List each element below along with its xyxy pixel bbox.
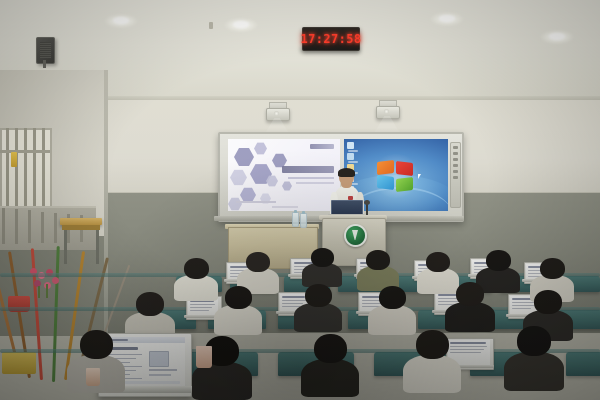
laptop-ui-line <box>450 346 487 347</box>
laptop-ui-header <box>282 296 305 298</box>
attendee-body <box>294 303 342 332</box>
projector-left-lens <box>274 111 279 116</box>
slide-subtitle-line <box>296 182 334 184</box>
slide-subtitle-line <box>288 177 334 179</box>
ceiling-light-3-core <box>439 15 455 22</box>
slide-hexagon <box>282 181 292 191</box>
attendee-head <box>534 290 562 314</box>
attendee-head <box>416 330 449 359</box>
projector-right-lens <box>384 109 389 114</box>
left-wall-corner <box>104 70 108 336</box>
flower-stem <box>46 284 48 298</box>
slide-hexagon <box>230 169 247 186</box>
water-bottle <box>300 213 307 228</box>
fg-form-line <box>108 354 142 355</box>
windows-logo-icon <box>377 161 415 191</box>
attendee-head <box>311 248 334 267</box>
railing-post <box>41 212 44 244</box>
attendee-head <box>540 258 565 279</box>
slide-logo <box>310 144 334 149</box>
attendee-head <box>314 334 347 363</box>
laptop-ui-line <box>190 307 212 308</box>
ceiling-light-2-core <box>233 21 249 28</box>
presenter-hair <box>338 168 355 177</box>
attendee-head <box>184 258 209 279</box>
audience-seat[interactable] <box>566 352 600 376</box>
speaker-bracket <box>43 60 46 68</box>
flower-stem <box>38 286 40 298</box>
attendee-body <box>403 355 461 393</box>
laptop-ui-line <box>450 349 484 350</box>
ceiling-sprinkler <box>209 22 213 29</box>
attendee-head <box>225 286 252 309</box>
laptop-ui-line <box>438 301 460 302</box>
laptop-ui-header <box>450 342 486 344</box>
ceiling-light-1-core <box>113 17 129 24</box>
laptop-ui-line <box>282 300 306 301</box>
slide-footer-line <box>272 206 298 208</box>
attendee-head <box>426 252 450 272</box>
attendee-body <box>504 352 564 391</box>
fg-form-heading <box>108 347 138 350</box>
lecture-hall-photo: 17:27:58 <box>0 0 600 400</box>
window-rail <box>0 150 50 153</box>
desktop-icon-recycle-bin-label <box>348 161 358 163</box>
logo-pane-red <box>396 161 413 176</box>
school-crest-emblem <box>344 224 367 247</box>
wall-led-clock: 17:27:58 <box>302 27 360 51</box>
laptop-ui-line <box>282 303 303 304</box>
attendee-head <box>305 284 332 307</box>
paper-cup <box>196 346 212 368</box>
attendee-body <box>445 302 495 332</box>
fg-form-line <box>149 369 177 371</box>
slide-hexagon <box>228 197 242 211</box>
attendee-head <box>136 292 164 316</box>
attendee-head <box>456 282 484 306</box>
railing-post <box>28 210 31 243</box>
water-bottle <box>292 212 299 227</box>
slide-hexagon <box>254 142 267 155</box>
railing-post <box>54 213 57 243</box>
potted-flowers <box>30 268 60 294</box>
smartboard-control-panel[interactable] <box>450 142 461 208</box>
desk-leg <box>96 230 99 264</box>
fg-form-line <box>149 374 171 376</box>
logo-pane-orange <box>377 160 394 175</box>
flower-petal <box>52 277 59 284</box>
attendee-head <box>80 330 113 359</box>
attendee-head <box>379 286 406 309</box>
laptop-ui-line <box>190 304 215 305</box>
desktop-icon-computer[interactable] <box>347 142 354 149</box>
laptop-ui-line <box>512 308 531 309</box>
laptop-ui-line <box>190 310 209 311</box>
fg-form-image-box <box>149 351 169 367</box>
attendee-head <box>366 250 390 270</box>
railing-post <box>2 208 5 244</box>
logo-pane-blue <box>377 175 394 190</box>
laptop-ui-line <box>512 305 534 306</box>
logo-pane-green <box>396 177 413 192</box>
mouse-cursor-icon <box>418 174 423 179</box>
presentation-slide <box>228 139 340 211</box>
attendee-body <box>214 305 262 335</box>
attendee-body <box>301 359 359 397</box>
attendee-head <box>486 250 511 271</box>
paper-cup <box>86 368 100 386</box>
yellow-bin <box>2 352 36 374</box>
attendee-head <box>246 252 270 272</box>
clock-time-display: 17:27:58 <box>301 32 362 46</box>
slide-title-bar <box>282 166 334 173</box>
slide-footer-line <box>236 201 276 203</box>
laptop-ui-line <box>450 352 481 353</box>
wooden-desk-apron <box>62 225 100 230</box>
attendee-body <box>368 305 416 335</box>
wooden-desk-top <box>60 218 102 225</box>
slide-hexagon <box>234 147 254 167</box>
attendee-head <box>517 326 551 356</box>
desktop-icon-computer-label <box>348 150 358 152</box>
desk-leg <box>64 230 67 264</box>
ceiling-light-4-core <box>549 33 565 40</box>
window-security-bars <box>0 128 48 208</box>
railing-post <box>15 209 18 244</box>
desktop-icon-recycle-bin[interactable] <box>347 153 354 160</box>
window-latch <box>11 152 17 167</box>
